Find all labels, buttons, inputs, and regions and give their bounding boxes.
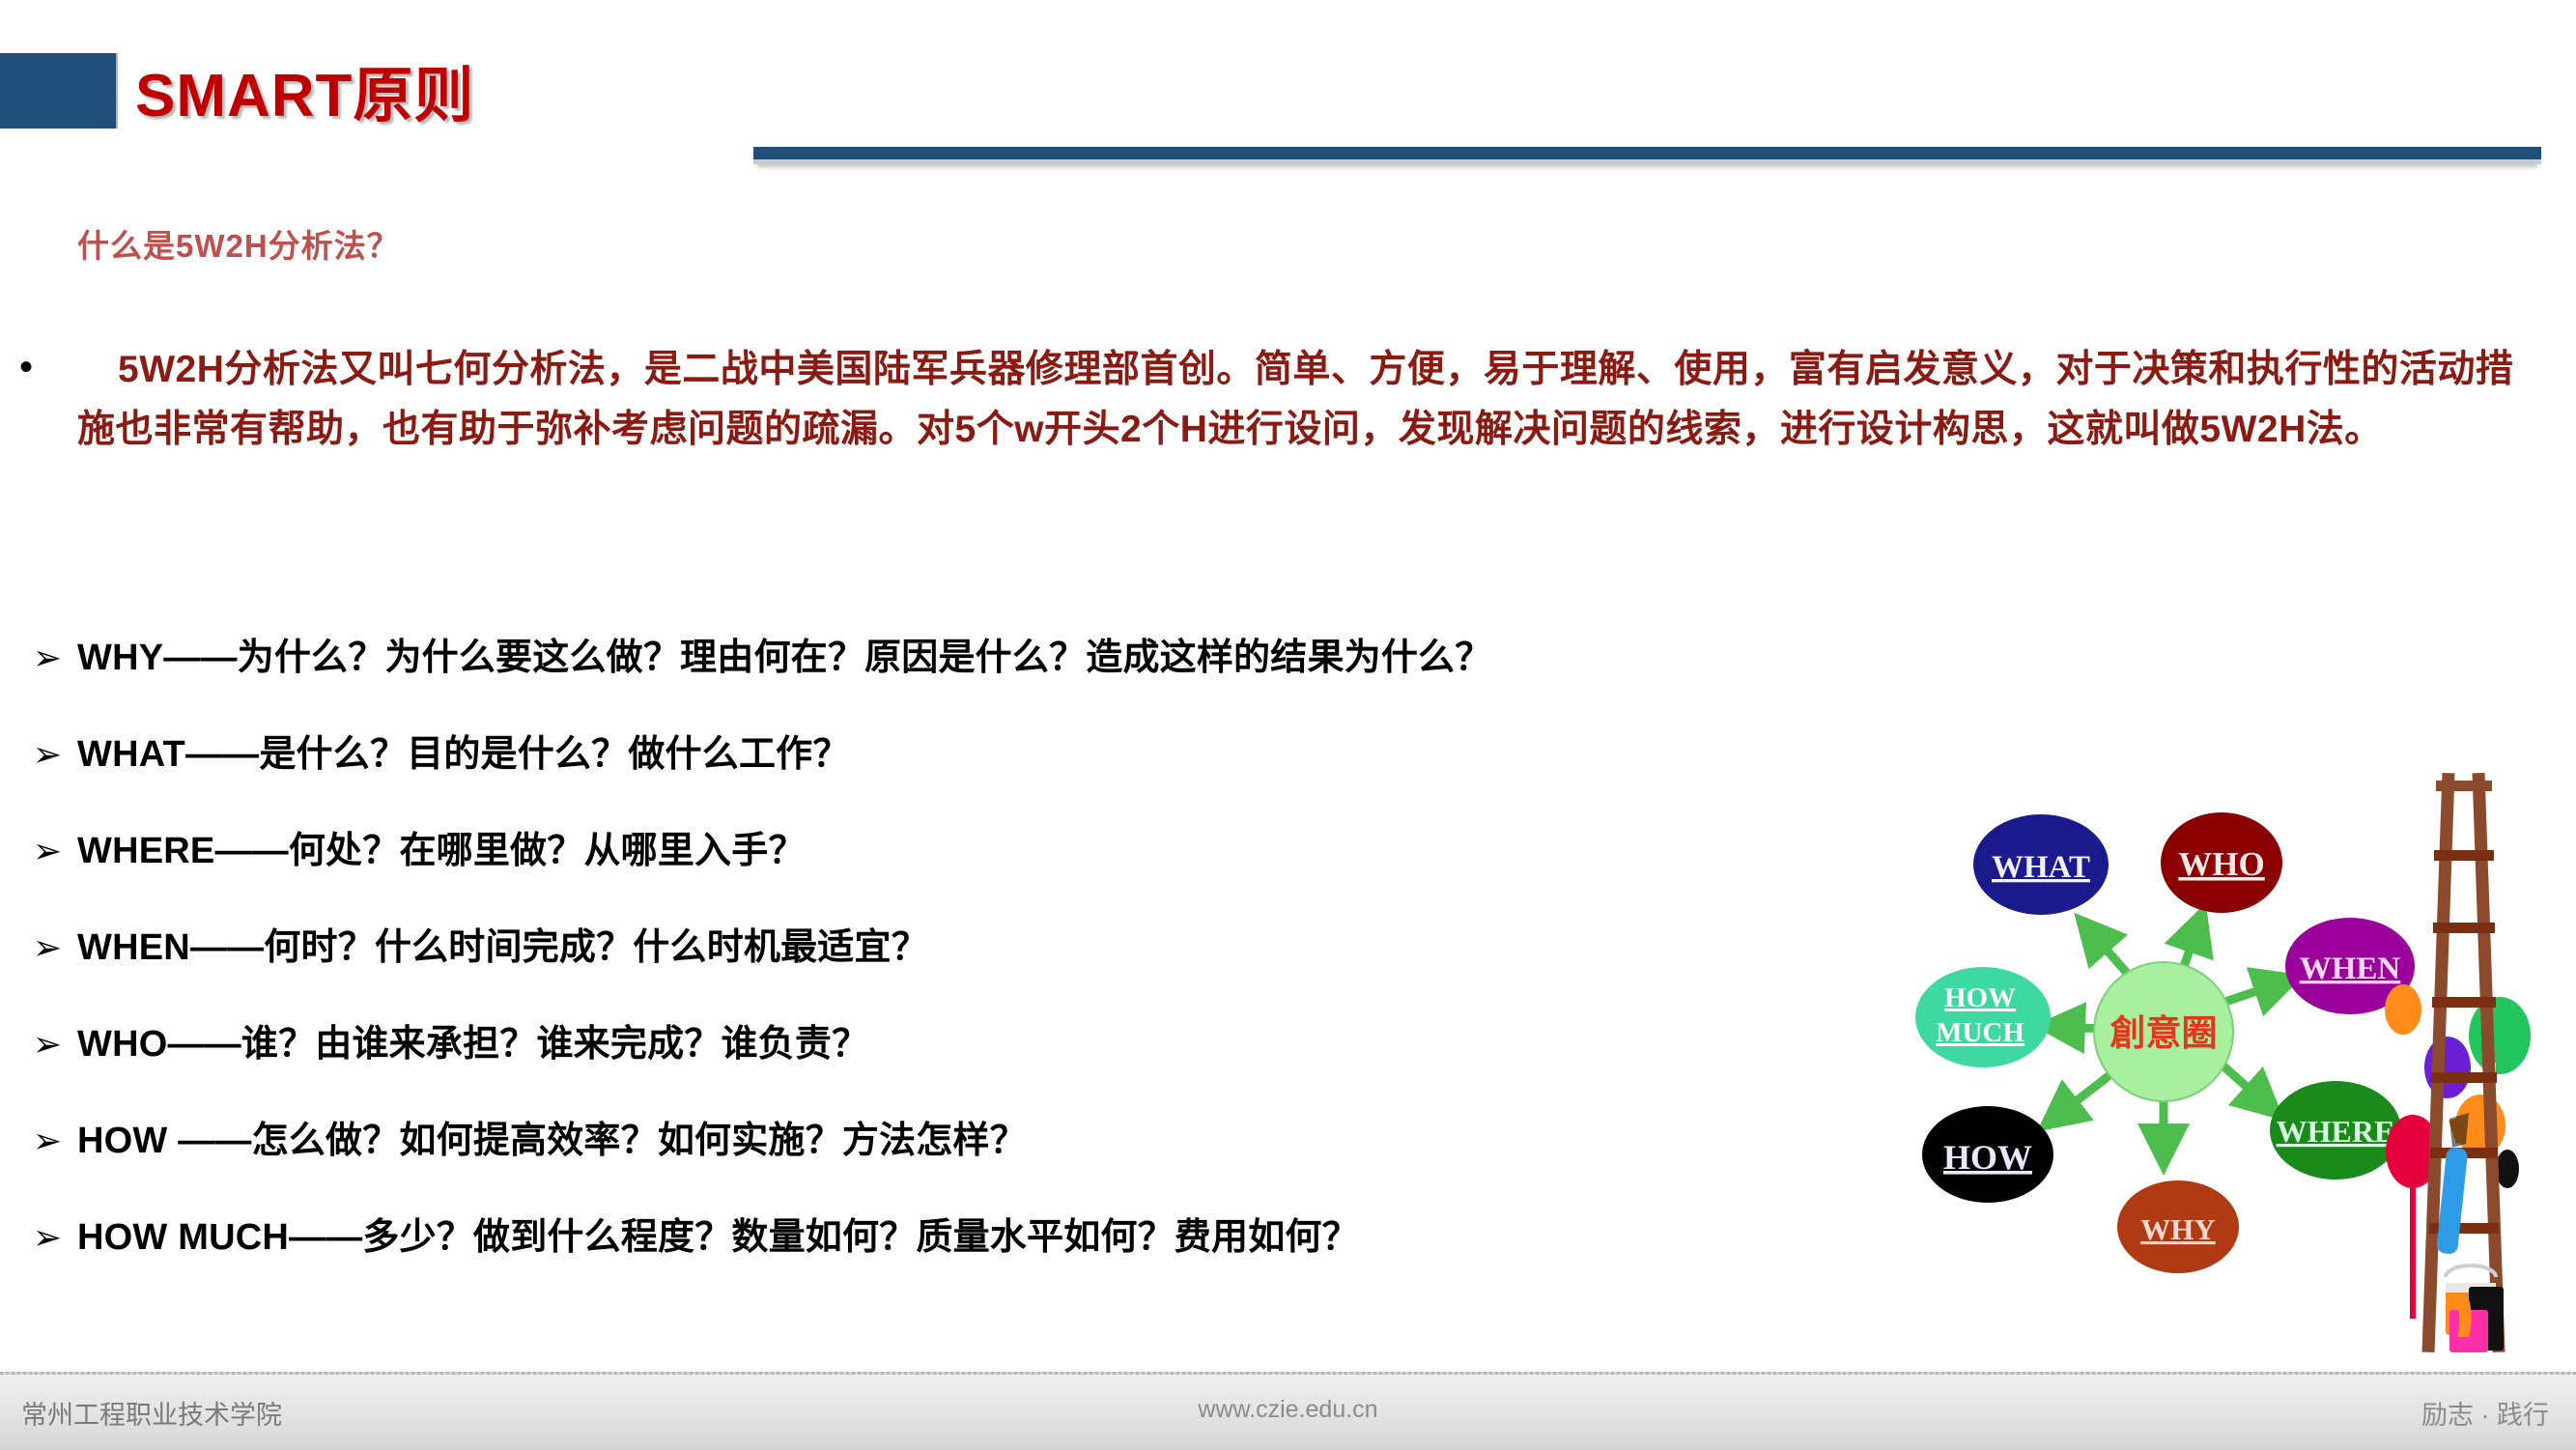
diagram-node-label-how-much-line1: HOW — [1944, 982, 2016, 1013]
list-item-label-what: WHAT——是什么？目的是什么？做什么工作？ — [77, 732, 850, 779]
footer-website: www.czie.edu.cn — [0, 1396, 2576, 1424]
page-title: SMART原则 — [135, 46, 474, 133]
footer-motto: 励志 · 践行 — [2421, 1394, 2549, 1432]
diagram-node-label-what: WHAT — [1992, 850, 2090, 885]
ladder-paint-artwork — [2357, 734, 2576, 1352]
list-item-label-how: HOW ——怎么做？如何提高效率？如何实施？方法怎样？ — [77, 1119, 1027, 1165]
arrow-bullet-icon: ➢ — [17, 1215, 77, 1259]
header-divider-rule — [753, 147, 2541, 164]
list-item-label-where: WHERE——何处？在哪里做？从哪里入手？ — [77, 829, 806, 875]
paragraph-text: 5W2H分析法又叫七何分析法，是二战中美国陆军兵器修理部首创。简单、方便，易于理… — [77, 340, 2550, 459]
slide: SMART原则 什么是5W2H分析法？ • 5W2H分析法又叫七何分析法，是二战… — [0, 0, 2576, 1450]
arrow-bullet-icon: ➢ — [17, 732, 77, 776]
arrow-bullet-icon: ➢ — [17, 1119, 77, 1162]
diagram-center-label: 創意圈 — [2110, 1013, 2218, 1053]
slide-footer: 常州工程职业技术学院 www.czie.edu.cn 励志 · 践行 — [0, 1372, 2576, 1450]
arrow-bullet-icon: ➢ — [17, 925, 77, 969]
diagram-node-label-who: WHO — [2178, 845, 2264, 883]
arrow-bullet-icon: ➢ — [17, 1022, 77, 1066]
arrow-bullet-icon: ➢ — [17, 829, 77, 872]
arrow-bullet-icon: ➢ — [17, 636, 77, 679]
list-item-label-when: WHEN——何时？什么时间完成？什么时机最适宜？ — [77, 925, 928, 972]
list-item-label-who: WHO——谁？由谁来承担？谁来完成？谁负责？ — [77, 1022, 868, 1068]
paragraph-bullet-icon: • — [19, 348, 33, 386]
intro-paragraph: • 5W2H分析法又叫七何分析法，是二战中美国陆军兵器修理部首创。简单、方便，易… — [19, 340, 2550, 459]
list-item-label-why: WHY——为什么？为什么要这么做？理由何在？原因是什么？造成这样的结果为什么？ — [77, 636, 1491, 682]
list-item: ➢ WHY——为什么？为什么要这么做？理由何在？原因是什么？造成这样的结果为什么… — [17, 636, 2567, 732]
section-subtitle: 什么是5W2H分析法？ — [77, 220, 400, 267]
list-item-label-how-much: HOW MUCH——多少？做到什么程度？数量如何？质量水平如何？费用如何？ — [77, 1215, 1359, 1262]
diagram-node-label-how-much-line2: MUCH — [1936, 1017, 2024, 1048]
diagram-node-label-how: HOW — [1943, 1138, 2032, 1177]
diagram-node-label-why: WHY — [2140, 1212, 2216, 1246]
header-accent-block — [0, 53, 118, 128]
